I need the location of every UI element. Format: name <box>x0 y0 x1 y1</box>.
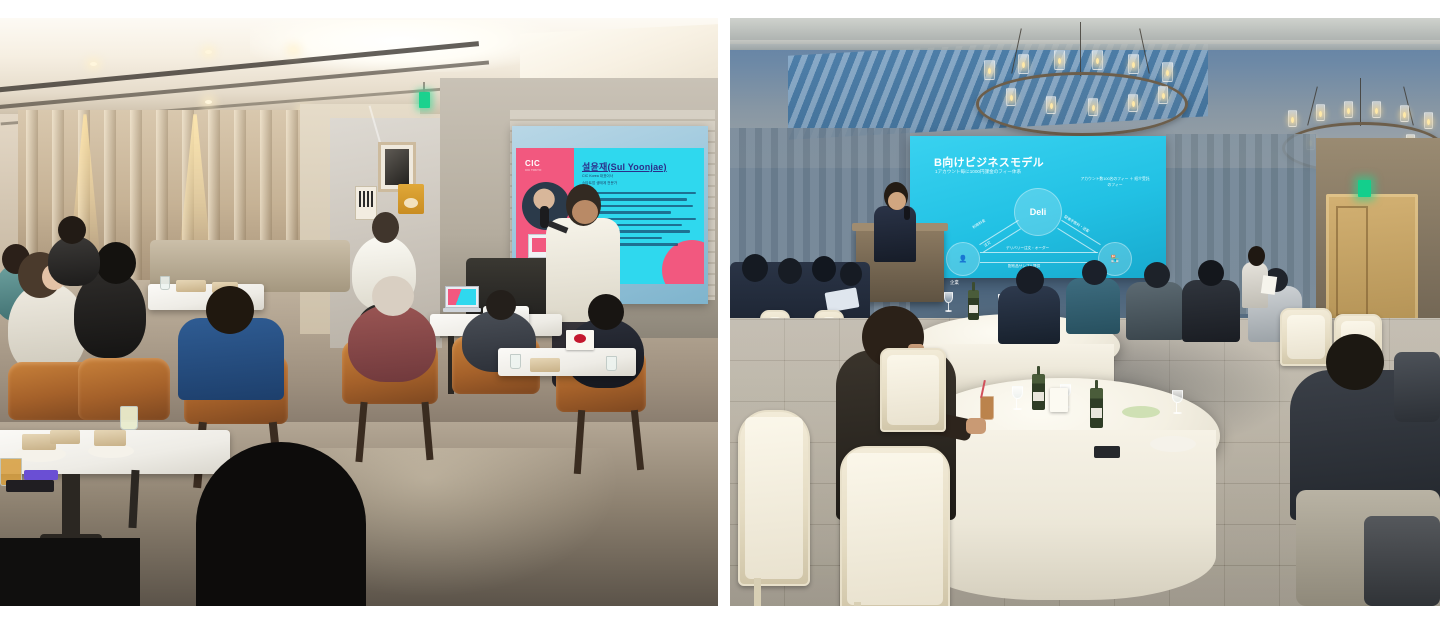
foreground-guest-leg <box>1364 516 1440 606</box>
diagram-edge-label-4: デリバリー注文・オーダー <box>1006 246 1049 251</box>
diagram-node-left: 👤 <box>946 242 980 276</box>
plate <box>1150 436 1196 452</box>
drink-cup <box>510 354 521 369</box>
table-letter-card <box>1050 388 1068 412</box>
chair[interactable] <box>840 446 950 606</box>
beer-bottle <box>1090 388 1103 428</box>
projection-screen: B向けビジネスモデル 1アカウント毎に1000円課金のフィー体系 アカウント数1… <box>910 136 1166 278</box>
presenter-laptop[interactable] <box>443 286 481 314</box>
presenter-standing-face <box>572 200 598 224</box>
chandelier-left <box>976 46 1186 134</box>
diagram-edge-label-1: 利用料金 <box>972 219 987 231</box>
food-box <box>94 430 126 446</box>
node-label-left: 企業 <box>950 280 959 286</box>
bottle-label <box>1091 408 1102 418</box>
chair-leg <box>854 602 861 606</box>
exit-sign-icon <box>419 92 430 108</box>
audience-member-head <box>486 290 516 320</box>
slide-subhead-2: 스타트업 생태계 전문가 <box>582 181 694 186</box>
foreground-silhouette-shoulder <box>0 538 140 606</box>
diagram-edge-right-center <box>1057 228 1097 253</box>
laptop-screen <box>445 286 479 308</box>
downlight-icon <box>205 50 212 54</box>
cic-logo-text: CIC <box>525 159 547 168</box>
drink-cup <box>160 276 170 290</box>
microphone-icon <box>904 206 910 220</box>
food-box <box>530 358 560 372</box>
table-leg <box>62 474 80 540</box>
bottle-label <box>1033 392 1044 401</box>
salad-plate <box>1122 406 1160 418</box>
drink-glass <box>120 406 138 430</box>
downlight-icon <box>90 62 97 66</box>
audience-member-body <box>1126 282 1184 340</box>
audience-member-head <box>96 242 136 284</box>
chair[interactable] <box>880 348 946 432</box>
chair[interactable] <box>738 410 810 586</box>
slide-subhead-1: CIC Korea 대표이사 <box>582 174 694 179</box>
exit-sign-icon <box>1358 180 1371 197</box>
right-photo[interactable]: B向けビジネスモデル 1アカウント毎に1000円課金のフィー体系 アカウント数1… <box>730 18 1440 606</box>
audience-member-body <box>1066 278 1120 334</box>
foreground-silhouette-head <box>196 442 366 606</box>
ceiling-light-glow <box>250 20 550 72</box>
slide-headline: 설윤재(Sul Yoonjae) <box>582 160 667 173</box>
foreground-guest-right-head <box>1326 334 1384 390</box>
staff-head <box>1248 246 1265 266</box>
beer-bottle <box>1032 374 1045 410</box>
audience-member-body <box>998 286 1060 344</box>
notebook <box>6 480 54 492</box>
cic-logo-subtext: CIC TOKYO <box>525 168 547 172</box>
foreground-guest-far-right <box>1394 352 1440 422</box>
cic-logo: CIC CIC TOKYO <box>525 159 547 172</box>
audience-member-head <box>372 276 414 316</box>
downlight-icon <box>205 100 212 104</box>
beer-bottle <box>968 290 979 320</box>
smartphone[interactable] <box>24 470 58 480</box>
audience-member-head <box>1016 266 1044 294</box>
camera-on-table <box>1094 446 1120 458</box>
right-slide-subtitle: 1アカウント毎に1000円課金のフィー体系 <box>935 169 1021 175</box>
qr-poster <box>355 186 377 220</box>
downlight-icon <box>290 48 297 52</box>
photo-collage: CIC CIC TOKYO 설윤재(Sul Yoonjae) CIC Korea… <box>0 0 1440 630</box>
tent-card <box>566 330 594 350</box>
drink-cup <box>606 356 617 371</box>
audience-member-head <box>588 294 624 330</box>
chair[interactable] <box>1280 308 1332 366</box>
left-photo[interactable]: CIC CIC TOKYO 설윤재(Sul Yoonjae) CIC Korea… <box>0 18 718 606</box>
audience-member-head <box>1198 260 1224 286</box>
right-slide-title: B向けビジネスモデル <box>934 154 1044 170</box>
door-panel <box>1336 206 1368 316</box>
audience-member-head <box>812 256 836 282</box>
diagram-edge-left-right <box>980 252 1098 253</box>
amber-signboard <box>398 184 424 214</box>
diagram-edge-right-left <box>980 262 1098 263</box>
audience-member-head <box>206 286 254 334</box>
audience-member-body <box>1182 280 1240 342</box>
foreground-guest-hand <box>966 418 986 434</box>
audience-member-head <box>778 258 802 284</box>
chair-leg <box>754 578 761 606</box>
plate <box>88 444 134 458</box>
audience-member-head <box>742 254 768 282</box>
laptop-base <box>443 308 481 312</box>
bottle-label <box>969 305 978 313</box>
food-box <box>176 280 206 292</box>
food-box <box>50 430 80 444</box>
iced-drink <box>980 396 994 420</box>
audience-member-head <box>840 262 862 286</box>
audience-member-head <box>1082 260 1107 285</box>
tablecloth-main <box>912 430 1216 600</box>
presenter-seated-head <box>372 212 399 243</box>
audience-member-head <box>58 216 86 244</box>
audience-member-head <box>1144 262 1170 288</box>
right-slide-note: アカウント数100名のフィー ＋ 紹介受託のフィー <box>1080 176 1150 188</box>
staff-papers <box>1261 275 1277 295</box>
